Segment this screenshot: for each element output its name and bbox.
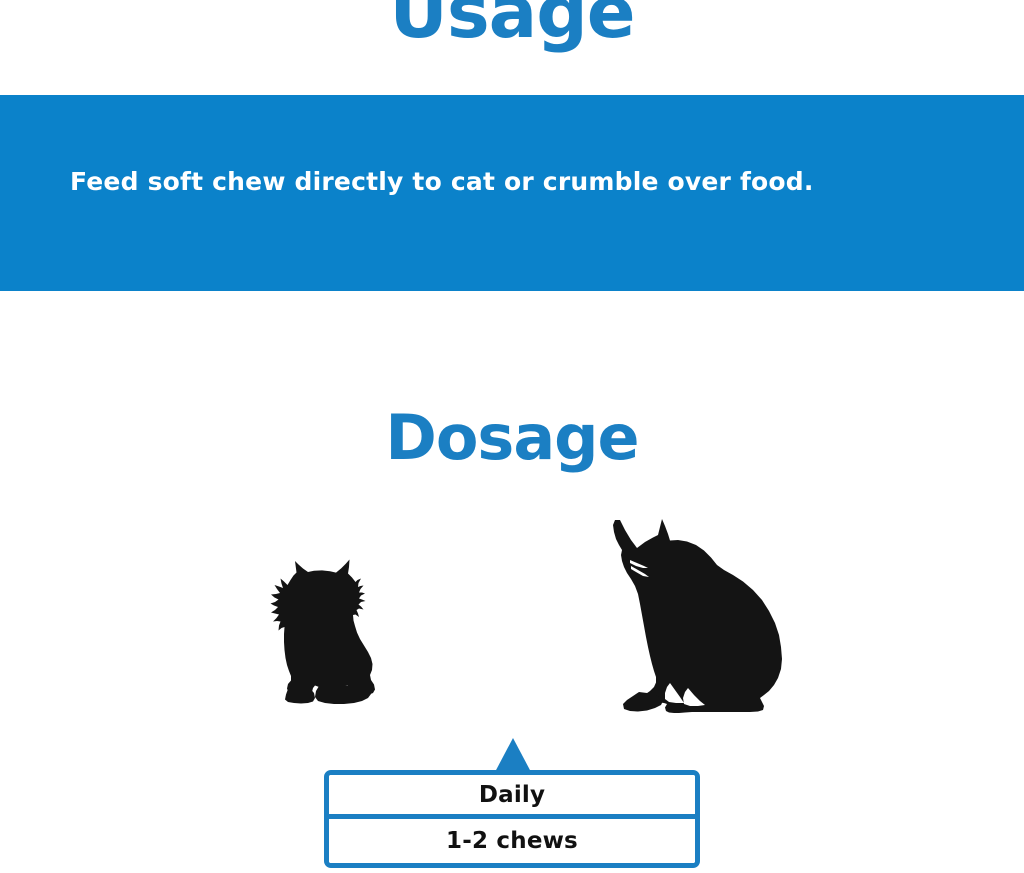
table-row: Daily [329, 775, 695, 819]
adult-cat-silhouette-icon [612, 514, 798, 722]
dosage-heading: Dosage [0, 404, 1024, 472]
dosage-frequency-label: Daily [479, 782, 545, 808]
dosage-illustrations [0, 500, 1024, 730]
table-row: 1-2 chews [329, 819, 695, 863]
usage-instruction-banner: Feed soft chew directly to cat or crumbl… [0, 95, 1024, 291]
usage-dosage-panel: Usage Feed soft chew directly to cat or … [0, 0, 1024, 873]
usage-instruction-text: Feed soft chew directly to cat or crumbl… [70, 167, 814, 197]
usage-heading: Usage [0, 0, 1024, 48]
dosage-table: Daily 1-2 chews [324, 770, 700, 868]
dosage-amount-label: 1-2 chews [446, 828, 578, 854]
kitten-silhouette-icon [262, 558, 390, 718]
up-triangle-pointer-icon [493, 736, 533, 774]
dosage-table-container: Daily 1-2 chews [324, 736, 700, 868]
